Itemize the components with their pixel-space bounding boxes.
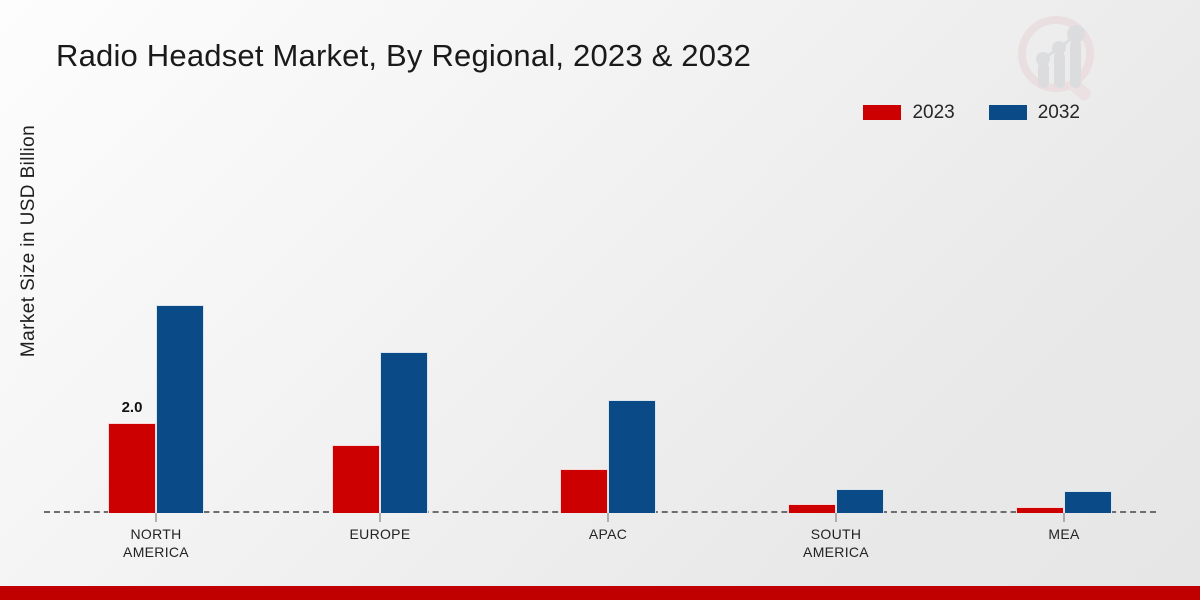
bar-value-label: 2.0	[122, 399, 143, 416]
bar-2032-north-america[interactable]	[156, 305, 204, 513]
bar-2032-europe[interactable]	[380, 352, 428, 513]
legend-label-2023: 2023	[912, 103, 954, 122]
x-axis-tick	[1064, 513, 1065, 522]
footer-accent-bar	[0, 586, 1200, 600]
plot-area: 2.0 NORTH AMERICA EUROPE APAC	[44, 140, 1156, 513]
page-title: Radio Headset Market, By Regional, 2023 …	[56, 38, 751, 74]
bar-2032-apac[interactable]	[608, 400, 656, 513]
category-label-apac: APAC	[589, 526, 627, 544]
bar-2023-europe[interactable]	[332, 445, 380, 513]
category-label-mea: MEA	[1048, 526, 1079, 544]
chart-container: Radio Headset Market, By Regional, 2023 …	[0, 0, 1200, 600]
magnifier-bar-chart-logo-icon	[1004, 8, 1112, 106]
bar-group-europe: EUROPE	[332, 140, 428, 513]
x-axis-tick	[836, 513, 837, 522]
bar-pair	[1016, 140, 1112, 513]
bar-2032-south-america[interactable]	[836, 489, 884, 513]
bar-group-south-america: SOUTH AMERICA	[788, 140, 884, 513]
bar-2023-north-america[interactable]: 2.0	[108, 423, 156, 513]
bar-pair: 2.0	[108, 140, 204, 513]
x-axis-tick	[608, 513, 609, 522]
x-axis-tick	[156, 513, 157, 522]
legend-item-2023[interactable]: 2023	[863, 103, 954, 122]
bar-2023-mea[interactable]	[1016, 507, 1064, 513]
bar-group-apac: APAC	[560, 140, 656, 513]
y-axis-label: Market Size in USD Billion	[18, 76, 40, 406]
legend-label-2032: 2032	[1038, 103, 1080, 122]
bar-group-north-america: 2.0 NORTH AMERICA	[108, 140, 204, 513]
x-axis-tick	[380, 513, 381, 522]
legend-swatch-2032	[989, 105, 1027, 120]
bar-pair	[332, 140, 428, 513]
bar-pair	[788, 140, 884, 513]
category-label-europe: EUROPE	[350, 526, 411, 544]
category-label-south-america: SOUTH AMERICA	[803, 526, 869, 561]
chart-legend: 2023 2032	[863, 103, 1080, 122]
bar-2032-mea[interactable]	[1064, 491, 1112, 513]
bar-pair	[560, 140, 656, 513]
legend-swatch-2023	[863, 105, 901, 120]
legend-item-2032[interactable]: 2032	[989, 103, 1080, 122]
bar-2023-apac[interactable]	[560, 469, 608, 513]
category-label-north-america: NORTH AMERICA	[123, 526, 189, 561]
bar-2023-south-america[interactable]	[788, 504, 836, 513]
bar-group-mea: MEA	[1016, 140, 1112, 513]
